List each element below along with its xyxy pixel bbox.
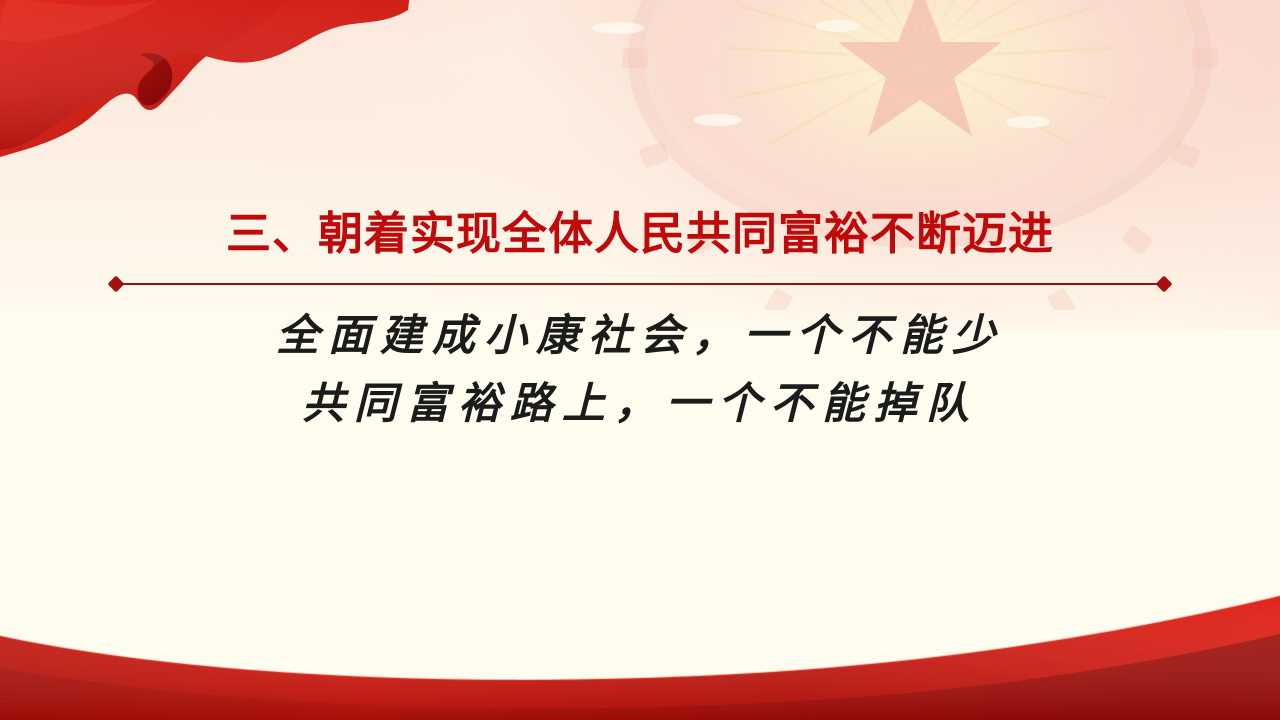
body-line-1: 全面建成小康社会，一个不能少 [0, 312, 1280, 362]
page-title: 三、朝着实现全体人民共同富裕不断迈进 [0, 208, 1280, 260]
divider-rule [116, 283, 1164, 285]
title-divider [110, 276, 1170, 292]
divider-right-diamond-icon [1156, 276, 1173, 293]
body-line-2: 共同富裕路上，一个不能掉队 [0, 380, 1280, 430]
slide-content: 三、朝着实现全体人民共同富裕不断迈进 全面建成小康社会，一个不能少 共同富裕路上… [0, 0, 1280, 720]
slide-canvas: 三、朝着实现全体人民共同富裕不断迈进 全面建成小康社会，一个不能少 共同富裕路上… [0, 0, 1280, 720]
